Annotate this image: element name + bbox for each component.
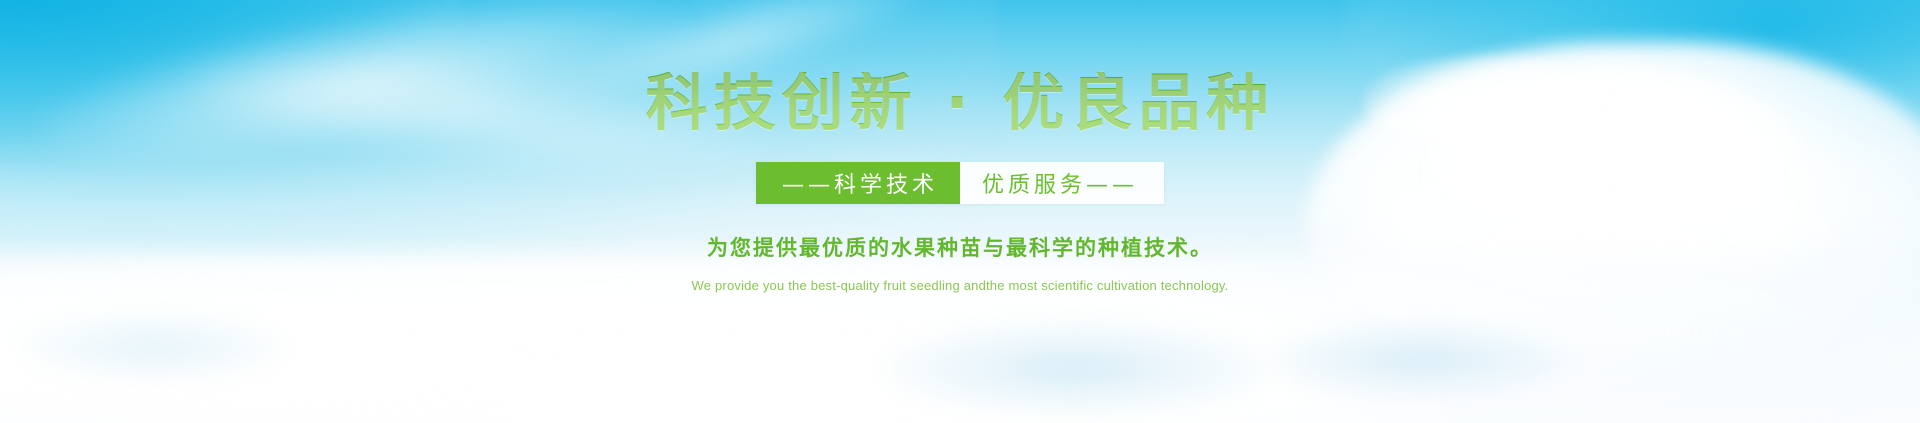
banner-subtitle-english: We provide you the best-quality fruit se… [692,278,1229,293]
banner-content: 科技创新 · 优良品种 ——科学技术 优质服务—— 为您提供最优质的水果种苗与最… [0,0,1920,423]
slogan-badge-left-segment: ——科学技术 [756,162,960,204]
banner-subtitle-chinese: 为您提供最优质的水果种苗与最科学的种植技术。 [707,232,1213,262]
banner-headline: 科技创新 · 优良品种 [646,72,1275,134]
slogan-badge: ——科学技术 优质服务—— [756,162,1164,204]
hero-banner: 科技创新 · 优良品种 ——科学技术 优质服务—— 为您提供最优质的水果种苗与最… [0,0,1920,423]
slogan-badge-right-segment: 优质服务—— [960,162,1164,204]
